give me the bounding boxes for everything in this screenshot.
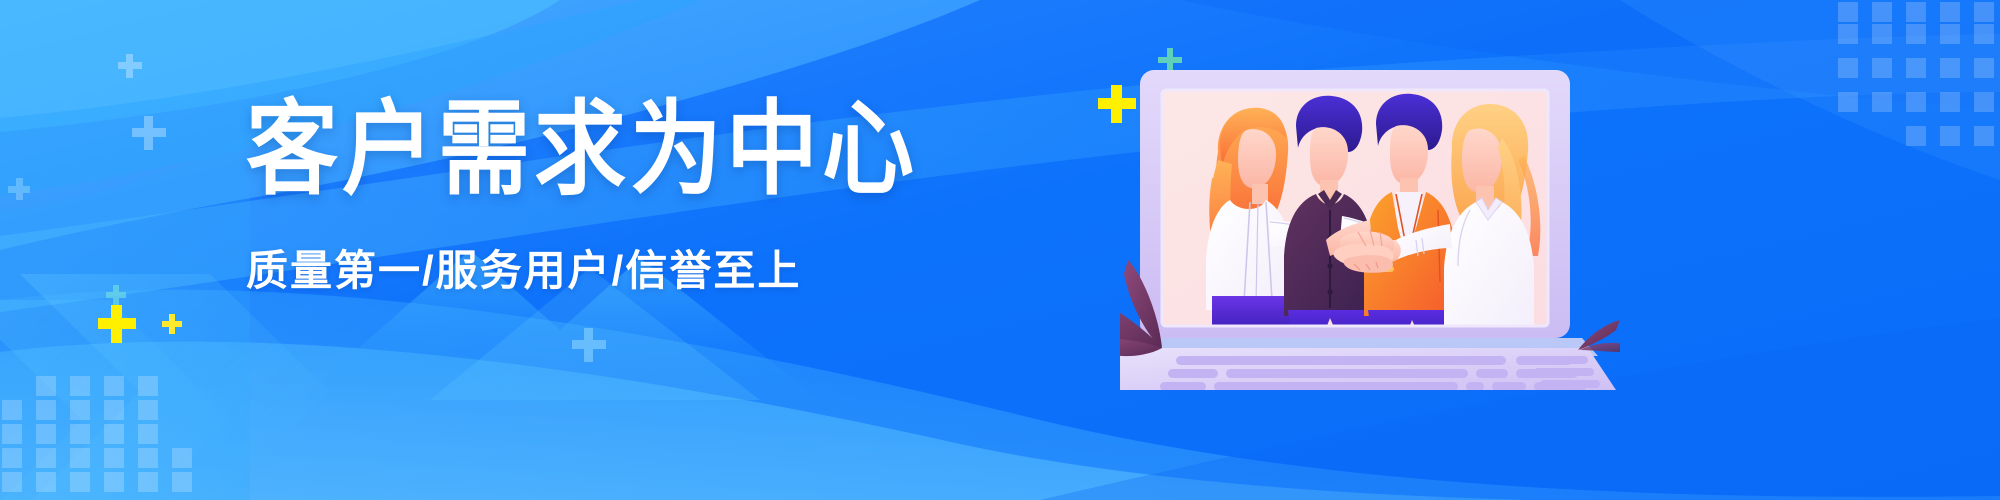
laptop-illustration xyxy=(1120,60,1620,390)
page-subtitle: 质量第一/服务用户/信誉至上 xyxy=(246,237,946,298)
laptop-base xyxy=(1120,338,1616,390)
plus-white-soft-left-icon xyxy=(132,116,166,150)
headline-block: 客户需求为中心 质量第一/服务用户/信誉至上 xyxy=(246,96,946,298)
plus-cyan-soft-far-left-icon xyxy=(8,178,30,200)
page-title: 客户需求为中心 xyxy=(246,96,946,204)
plus-cyan-soft-mid-icon xyxy=(572,328,606,362)
plus-teal-soft-bottom-left-icon xyxy=(106,285,126,305)
plus-yellow-large-bottom-left-icon xyxy=(98,305,136,343)
promo-banner: 客户需求为中心 质量第一/服务用户/信誉至上 xyxy=(0,0,2000,500)
plus-white-soft-top-left-icon xyxy=(118,54,142,78)
plus-yellow-small-bottom-left-icon xyxy=(162,314,182,334)
